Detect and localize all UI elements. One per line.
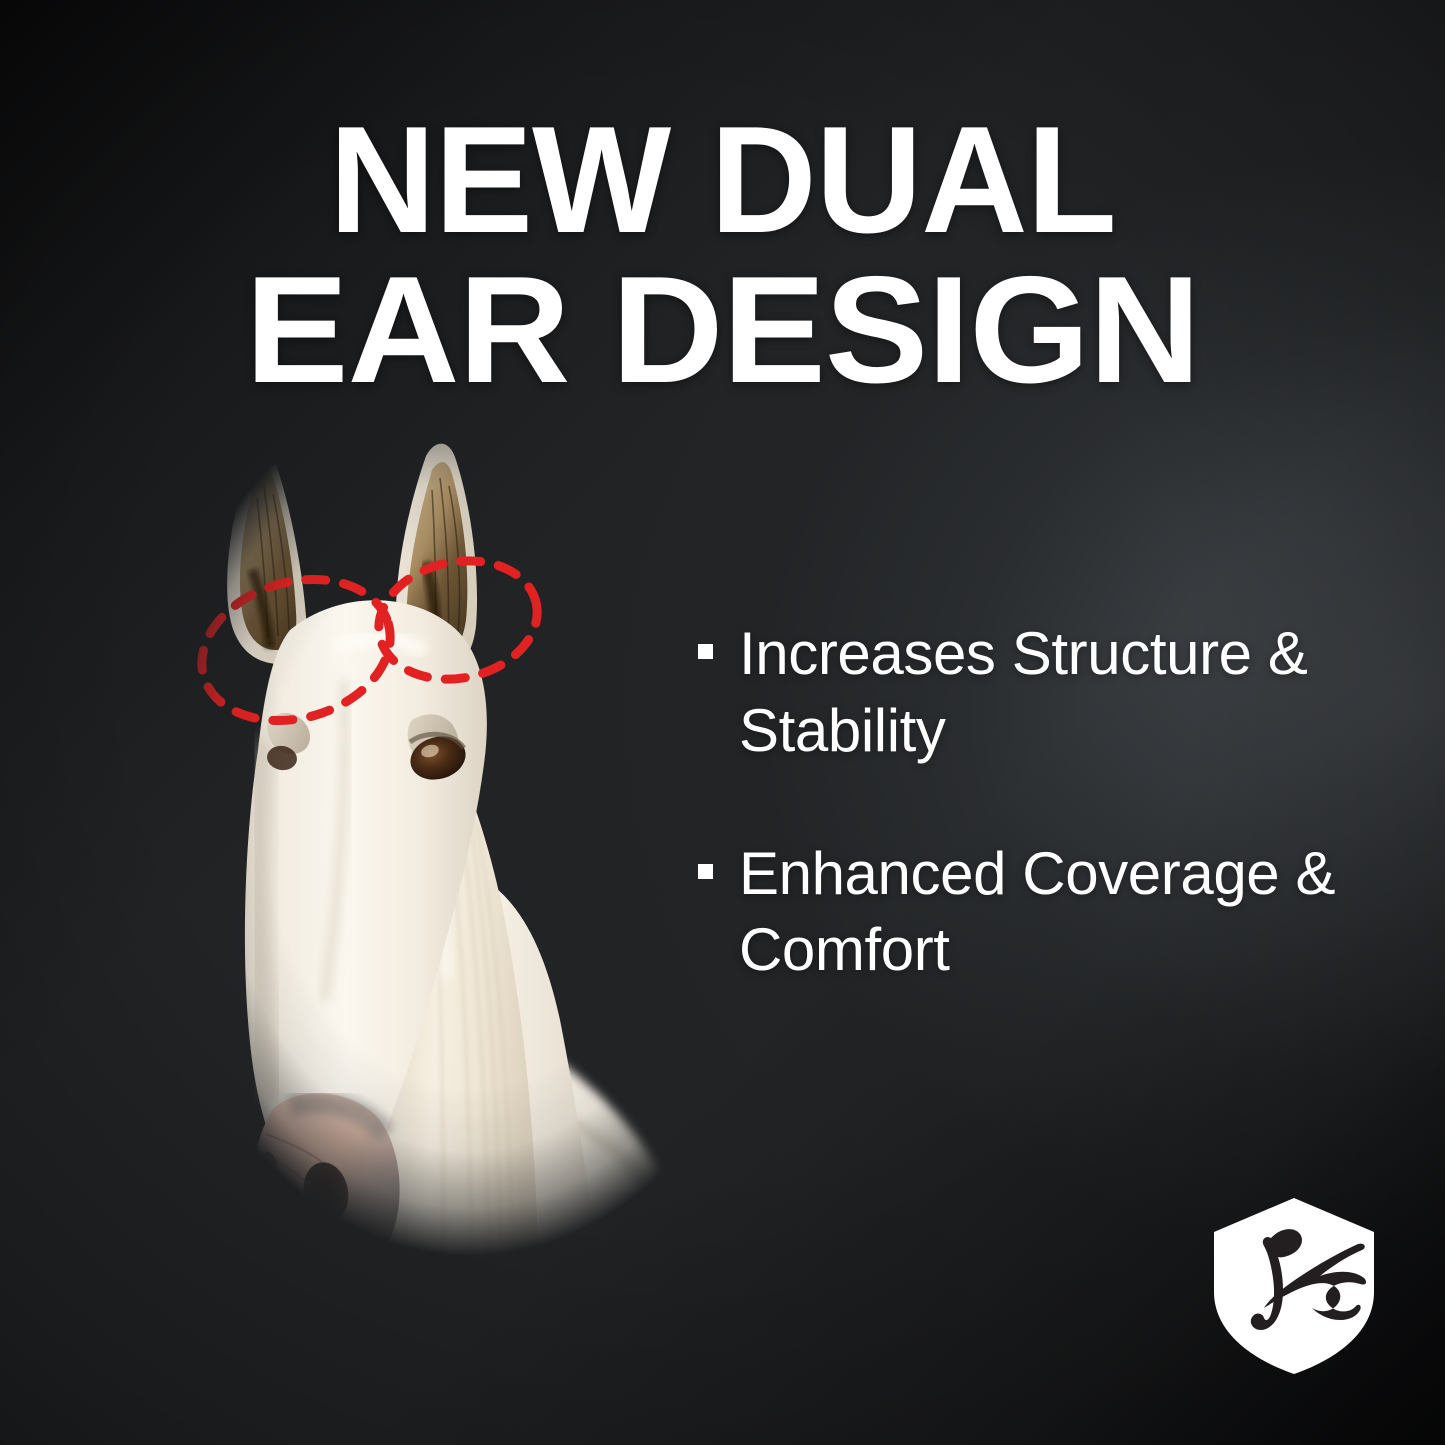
square-bullet-icon bbox=[698, 644, 713, 659]
list-item: Increases Structure & Stability bbox=[698, 616, 1378, 770]
bullet-text-2: Enhanced Coverage & Comfort bbox=[739, 836, 1378, 990]
bullet-text-1: Increases Structure & Stability bbox=[739, 616, 1378, 770]
feature-bullet-list: Increases Structure & Stability Enhanced… bbox=[698, 616, 1378, 1055]
headline: NEW DUAL EAR DESIGN bbox=[0, 108, 1445, 403]
poster-canvas: NEW DUAL EAR DESIGN bbox=[0, 0, 1445, 1445]
list-item: Enhanced Coverage & Comfort bbox=[698, 836, 1378, 990]
kensington-shield-logo bbox=[1208, 1196, 1380, 1376]
horse-muzzle bbox=[251, 1093, 400, 1284]
headline-line-2: EAR DESIGN bbox=[0, 258, 1445, 402]
square-bullet-icon bbox=[698, 864, 713, 879]
headline-line-1: NEW DUAL bbox=[22, 108, 1424, 252]
